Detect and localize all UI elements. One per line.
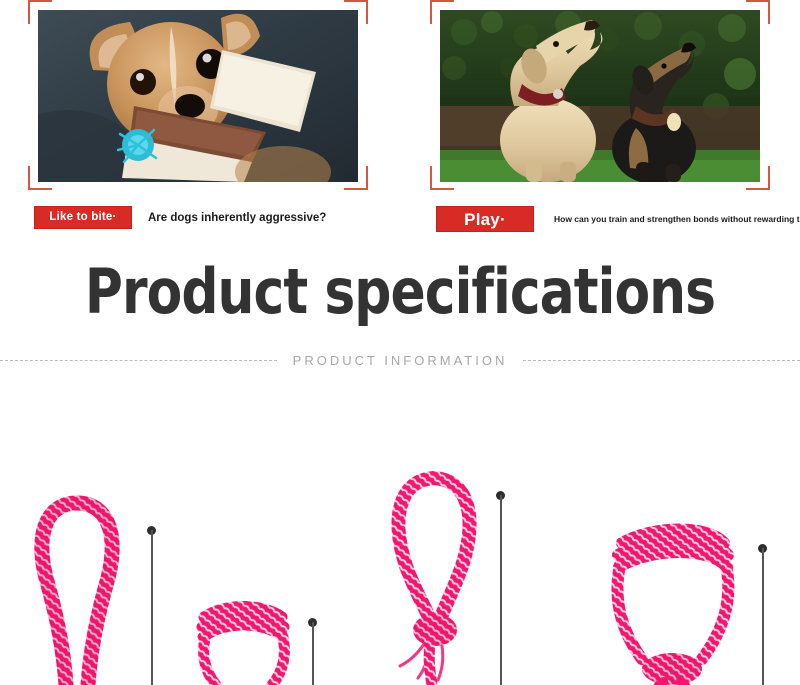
tag-button-like-to-bite[interactable]: Like to bite·: [34, 206, 132, 229]
hero-photo-section: Like to bite· Are dogs inherently aggres…: [0, 0, 800, 245]
product-specifications-heading: Product specifications PRODUCT INFORMATI…: [0, 245, 800, 445]
caption-row-play: Play· How can you train and strengthen b…: [436, 206, 800, 232]
page-subtitle: PRODUCT INFORMATION: [277, 353, 524, 368]
photo-two-dogs-playing: [440, 10, 760, 182]
measure-line: [151, 530, 153, 685]
measure-line: [762, 548, 764, 685]
dashed-rule-right: [523, 360, 800, 361]
photo-frame: [28, 0, 368, 190]
photo-frame: [430, 0, 770, 190]
measure-line: [500, 495, 502, 685]
tag-button-play[interactable]: Play·: [436, 206, 534, 232]
product-gallery-section: [0, 445, 800, 685]
photo-dog-biting-toy: [38, 10, 358, 182]
page-title: Product specifications: [28, 255, 772, 328]
photo-block-like-to-bite: Like to bite· Are dogs inherently aggres…: [28, 0, 368, 190]
product-rope-knot-toy-short[interactable]: [190, 595, 295, 685]
product-rope-handle-toy-wide[interactable]: [598, 517, 748, 685]
dashed-rule-left: [0, 360, 277, 361]
product-rope-loop-toy-knotted[interactable]: [382, 470, 492, 685]
product-rope-loop-toy-long[interactable]: [22, 495, 132, 685]
subtitle-divider-row: PRODUCT INFORMATION: [0, 353, 800, 368]
caption-row-like-to-bite: Like to bite· Are dogs inherently aggres…: [34, 206, 326, 229]
caption-text-like-to-bite: Are dogs inherently aggressive?: [148, 212, 326, 224]
measure-line: [312, 622, 314, 685]
photo-block-play: Play· How can you train and strengthen b…: [430, 0, 770, 190]
caption-text-play: How can you train and strengthen bonds w…: [554, 214, 800, 224]
